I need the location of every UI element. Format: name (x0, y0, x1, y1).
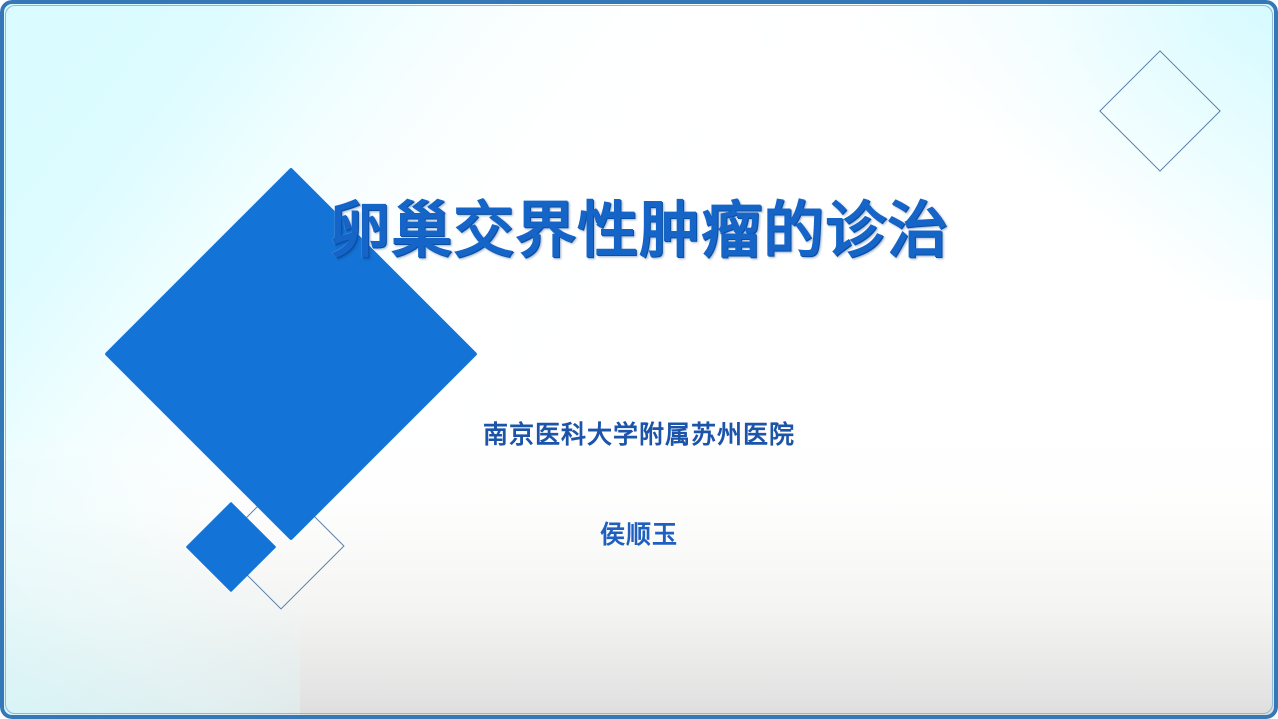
presentation-slide: 卵巢交界性肿瘤的诊治 南京医科大学附属苏州医院 侯顺玉 (0, 0, 1278, 719)
